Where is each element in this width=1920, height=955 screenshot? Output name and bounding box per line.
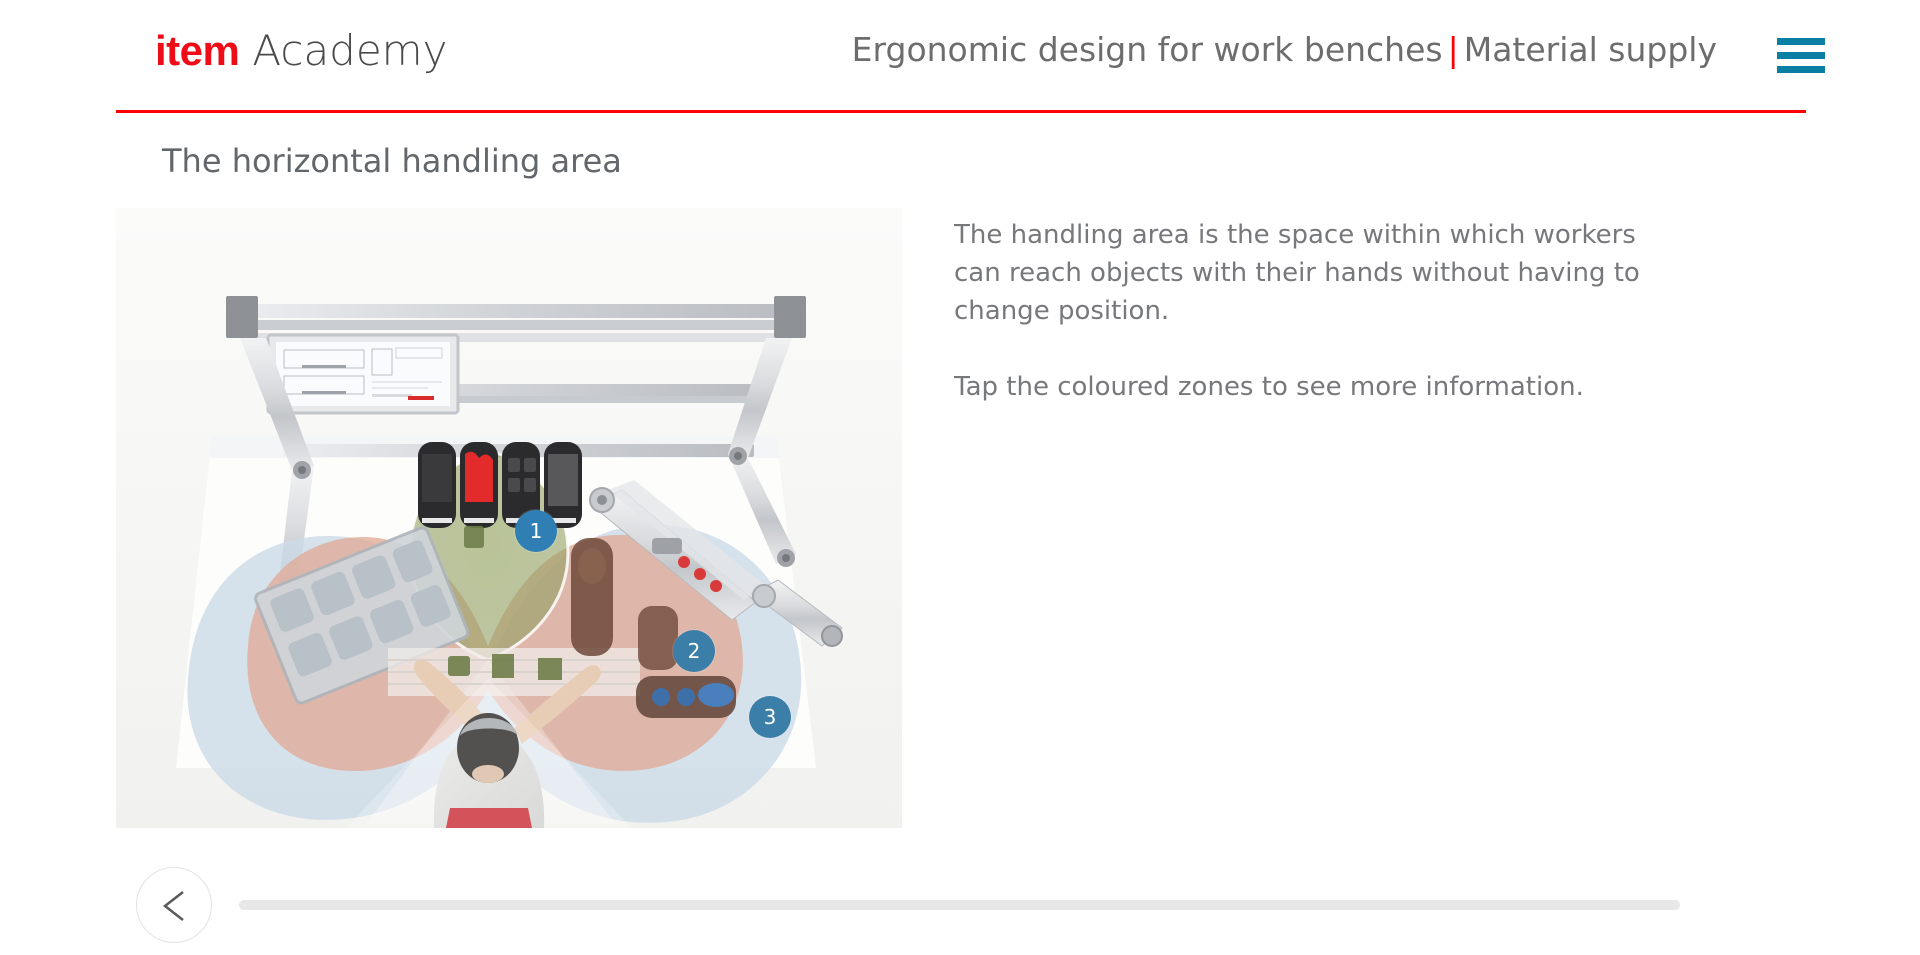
progress-bar-fill [239, 900, 1680, 910]
chevron-left-icon [159, 888, 191, 924]
logo-item-text: item [155, 27, 239, 75]
zone-marker-2[interactable]: 2 [673, 630, 715, 672]
zone-marker-3[interactable]: 3 [749, 696, 791, 738]
main-content: 1 2 3 The handling area is the space wit… [116, 208, 1806, 828]
document-holder [268, 335, 458, 413]
description-column: The handling area is the space within wh… [954, 216, 1664, 406]
academy-page: item Academy Ergonomic design for work b… [0, 0, 1920, 955]
page-footer [0, 855, 1920, 955]
course-breadcrumb: Ergonomic design for work benches|Materi… [852, 30, 1717, 69]
handling-area-illustration[interactable]: 1 2 3 [116, 208, 902, 828]
course-title-left: Ergonomic design for work benches [852, 30, 1443, 69]
logo-academy-text: Academy [252, 26, 447, 75]
hamburger-bar-1 [1777, 38, 1825, 45]
title-separator: | [1448, 30, 1459, 69]
course-title-right: Material supply [1464, 30, 1717, 69]
hamburger-bar-3 [1777, 66, 1825, 73]
zone-marker-1[interactable]: 1 [515, 510, 557, 552]
header-divider [116, 110, 1806, 113]
description-paragraph-1: The handling area is the space within wh… [954, 216, 1664, 330]
hamburger-bar-2 [1777, 52, 1825, 59]
item-academy-logo[interactable]: item Academy [155, 26, 447, 75]
back-button[interactable] [136, 867, 212, 943]
progress-bar[interactable] [239, 900, 1680, 910]
hamburger-menu-icon[interactable] [1777, 38, 1825, 74]
description-paragraph-2: Tap the coloured zones to see more infor… [954, 368, 1664, 406]
page-title: The horizontal handling area [162, 142, 622, 180]
page-header: item Academy Ergonomic design for work b… [0, 0, 1920, 111]
workbench-scene-svg [116, 208, 902, 828]
